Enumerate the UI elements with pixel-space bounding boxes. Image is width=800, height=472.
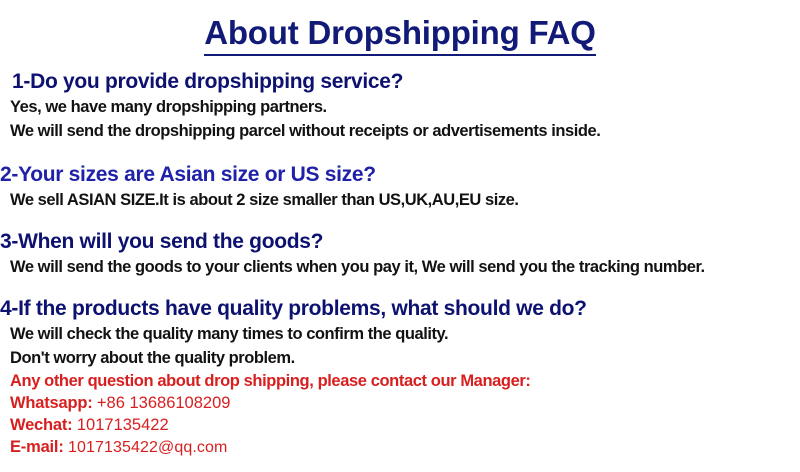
- spacer-1: [0, 149, 800, 161]
- contact-headline: Any other question about drop shipping, …: [10, 370, 800, 392]
- faq-item-4: 4-If the products have quality problems,…: [0, 295, 800, 370]
- contact-wechat-row: Wechat: 1017135422: [10, 414, 800, 436]
- contact-wechat-value[interactable]: 1017135422: [77, 416, 169, 434]
- contact-block: Any other question about drop shipping, …: [10, 370, 800, 459]
- faq-answer-1-line-2: We will send the dropshipping parcel wit…: [0, 119, 800, 143]
- page-title-text: About Dropshipping FAQ: [204, 14, 596, 56]
- contact-whatsapp-row: Whatsapp: +86 13686108209: [10, 392, 800, 414]
- faq-answer-4-line-2: Don't worry about the quality problem.: [0, 346, 800, 370]
- spacer-2: [0, 218, 800, 228]
- faq-item-1: 1-Do you provide dropshipping service? Y…: [0, 68, 800, 143]
- faq-question-2: 2-Your sizes are Asian size or US size?: [0, 161, 800, 188]
- faq-answer-2-line-1: We sell ASIAN SIZE.It is about 2 size sm…: [0, 188, 800, 212]
- contact-email-value[interactable]: 1017135422@qq.com: [68, 439, 227, 456]
- faq-item-3: 3-When will you send the goods? We will …: [0, 228, 800, 279]
- contact-whatsapp-value[interactable]: +86 13686108209: [97, 394, 231, 412]
- faq-page: About Dropshipping FAQ 1-Do you provide …: [0, 0, 800, 472]
- contact-whatsapp-label: Whatsapp:: [10, 394, 97, 412]
- faq-question-3: 3-When will you send the goods?: [0, 228, 800, 255]
- faq-item-2: 2-Your sizes are Asian size or US size? …: [0, 161, 800, 212]
- faq-answer-4-line-1: We will check the quality many times to …: [0, 322, 800, 346]
- contact-email-row: E-mail: 1017135422@qq.com: [10, 436, 800, 459]
- faq-question-4: 4-If the products have quality problems,…: [0, 295, 800, 322]
- page-title: About Dropshipping FAQ: [0, 14, 800, 52]
- faq-answer-1-line-1: Yes, we have many dropshipping partners.: [0, 95, 800, 119]
- contact-email-label: E-mail:: [10, 438, 68, 456]
- faq-list: 1-Do you provide dropshipping service? Y…: [0, 68, 800, 376]
- contact-wechat-label: Wechat:: [10, 416, 77, 434]
- spacer-3: [0, 285, 800, 295]
- faq-question-1: 1-Do you provide dropshipping service?: [0, 68, 800, 95]
- faq-answer-3-line-1: We will send the goods to your clients w…: [0, 255, 800, 279]
